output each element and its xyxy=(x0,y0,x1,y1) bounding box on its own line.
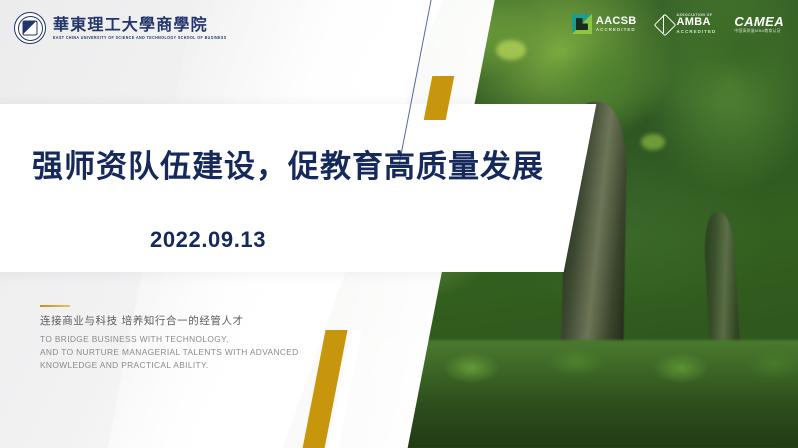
title-white-panel xyxy=(0,104,596,272)
page-title: 强师资队伍建设，促教育高质量发展 xyxy=(32,141,544,186)
gold-rule-divider xyxy=(40,305,70,307)
aacsb-logo-icon xyxy=(572,14,592,34)
brand-text-block: 華東理工大學商學院 EAST CHINA UNIVERSITY OF SCIEN… xyxy=(53,17,227,39)
camea-wordmark: CAMEA 中国高质量MBA教育认证 xyxy=(734,15,784,34)
event-date: 2022.09.13 xyxy=(150,227,266,253)
camea-sub: 中国高质量MBA教育认证 xyxy=(734,30,784,34)
crest-inner-ring xyxy=(18,16,43,41)
amba-sub: ACCREDITED xyxy=(677,30,717,34)
brand-name-en: EAST CHINA UNIVERSITY OF SCIENCE AND TEC… xyxy=(53,35,227,40)
accreditation-logos: AACSB ACCREDITED ASSOCIATION OF AMBA ACC… xyxy=(572,14,784,34)
tagline-en-line2: AND TO NURTURE MANAGERIAL TALENTS WITH A… xyxy=(40,346,299,359)
camea-name: CAMEA xyxy=(734,15,784,28)
amba-logo-icon xyxy=(655,14,673,34)
university-crest-icon xyxy=(14,12,46,44)
tagline-en-line1: TO BRIDGE BUSINESS WITH TECHNOLOGY, xyxy=(40,333,299,346)
tagline-en-line3: KNOWLEDGE AND PRACTICAL ABILITY. xyxy=(40,359,299,372)
amba-wordmark: ASSOCIATION OF AMBA ACCREDITED xyxy=(677,14,717,34)
accreditation-aacsb: AACSB ACCREDITED xyxy=(572,14,637,34)
aacsb-name: AACSB xyxy=(596,16,637,27)
accreditation-amba: ASSOCIATION OF AMBA ACCREDITED xyxy=(655,14,717,34)
aacsb-sub: ACCREDITED xyxy=(596,28,637,32)
tagline-cn: 连接商业与科技 培养知行合一的经管人才 xyxy=(40,313,299,328)
brand-name-cn: 華東理工大學商學院 xyxy=(53,17,227,34)
presentation-title-slide: 華東理工大學商學院 EAST CHINA UNIVERSITY OF SCIEN… xyxy=(0,0,798,448)
school-brand-lockup: 華東理工大學商學院 EAST CHINA UNIVERSITY OF SCIEN… xyxy=(14,12,227,44)
accreditation-camea: CAMEA 中国高质量MBA教育认证 xyxy=(734,15,784,34)
aacsb-wordmark: AACSB ACCREDITED xyxy=(596,16,637,33)
school-tagline: 连接商业与科技 培养知行合一的经管人才 TO BRIDGE BUSINESS W… xyxy=(40,313,299,372)
amba-name: AMBA xyxy=(677,17,717,28)
